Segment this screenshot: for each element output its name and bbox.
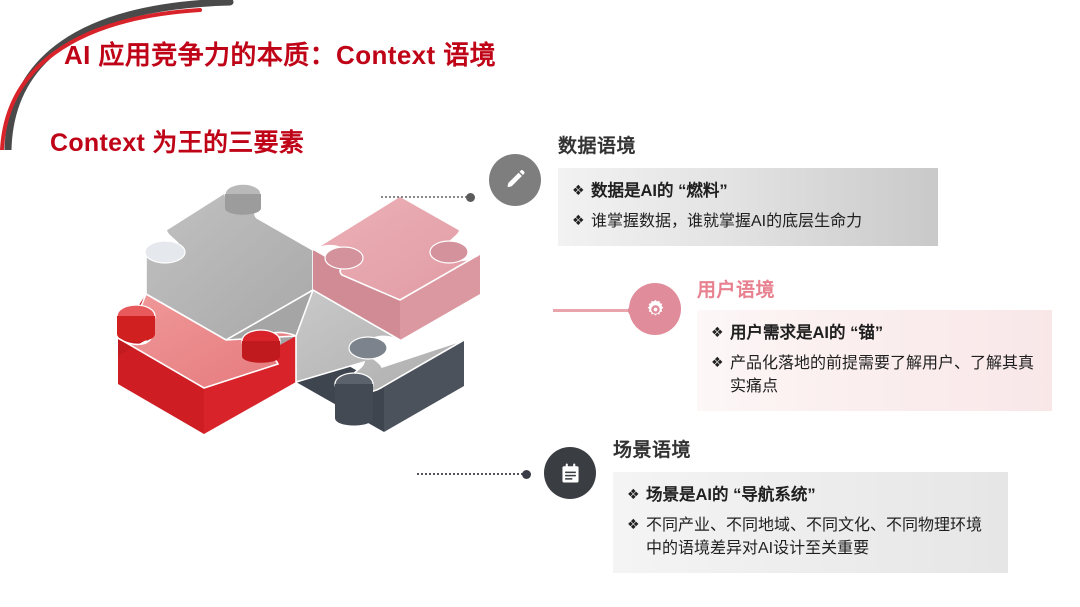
bullet-item: ❖ 数据是AI的 “燃料” — [572, 180, 922, 204]
context-block-scene: 场景语境 ❖ 场景是AI的 “导航系统” ❖ 不同产业、不同地域、不同文化、不同… — [613, 435, 1008, 573]
slide-canvas: AI 应用竞争力的本质：Context 语境 Context 为王的三要素 — [0, 0, 1080, 607]
block-body-data: ❖ 数据是AI的 “燃料” ❖ 谁掌握数据，谁就掌握AI的底层生命力 — [558, 168, 938, 246]
bullet-diamond-icon: ❖ — [627, 514, 646, 536]
block-heading-scene: 场景语境 — [613, 435, 1008, 462]
bullet-item: ❖ 用户需求是AI的 “锚” — [711, 322, 1036, 346]
bullet-diamond-icon: ❖ — [572, 180, 591, 202]
connector-line — [417, 473, 527, 475]
block-heading-data: 数据语境 — [558, 131, 938, 158]
bullet-diamond-icon: ❖ — [711, 352, 730, 374]
block-heading-user: 用户语境 — [697, 275, 1052, 302]
block-body-scene: ❖ 场景是AI的 “导航系统” ❖ 不同产业、不同地域、不同文化、不同物理环境中… — [613, 472, 1008, 573]
connector-line — [553, 309, 635, 312]
connector-data — [381, 196, 471, 198]
bullet-text: 用户需求是AI的 “锚” — [730, 322, 883, 346]
page-subtitle: Context 为王的三要素 — [50, 123, 304, 159]
bullet-diamond-icon: ❖ — [627, 484, 646, 506]
badge-user-context[interactable] — [629, 283, 681, 335]
jigsaw-puzzle-illustration — [108, 168, 508, 508]
bullet-item: ❖ 场景是AI的 “导航系统” — [627, 484, 992, 508]
connector-dot — [466, 193, 475, 202]
badge-scene-context[interactable] — [544, 447, 596, 499]
connector-dot — [522, 470, 531, 479]
context-block-user: 用户语境 ❖ 用户需求是AI的 “锚” ❖ 产品化落地的前提需要了解用户、了解其… — [697, 275, 1052, 411]
bullet-item: ❖ 谁掌握数据，谁就掌握AI的底层生命力 — [572, 210, 922, 233]
bullet-item: ❖ 不同产业、不同地域、不同文化、不同物理环境中的语境差异对AI设计至关重要 — [627, 514, 992, 560]
bullet-text: 场景是AI的 “导航系统” — [646, 484, 816, 508]
bullet-text: 数据是AI的 “燃料” — [591, 180, 728, 204]
connector-line — [381, 196, 471, 198]
bullet-diamond-icon: ❖ — [572, 210, 591, 232]
bullet-text: 产品化落地的前提需要了解用户、了解其真实痛点 — [730, 352, 1036, 398]
bullet-diamond-icon: ❖ — [711, 322, 730, 344]
gear-icon — [644, 298, 667, 321]
clipboard-icon — [559, 462, 582, 485]
bullet-item: ❖ 产品化落地的前提需要了解用户、了解其真实痛点 — [711, 352, 1036, 398]
page-title: AI 应用竞争力的本质：Context 语境 — [64, 35, 496, 72]
bullet-text: 不同产业、不同地域、不同文化、不同物理环境中的语境差异对AI设计至关重要 — [646, 514, 992, 560]
pencil-icon — [503, 168, 527, 192]
block-body-user: ❖ 用户需求是AI的 “锚” ❖ 产品化落地的前提需要了解用户、了解其真实痛点 — [697, 310, 1052, 411]
bullet-text: 谁掌握数据，谁就掌握AI的底层生命力 — [591, 210, 862, 233]
connector-user — [553, 309, 635, 311]
context-block-data: 数据语境 ❖ 数据是AI的 “燃料” ❖ 谁掌握数据，谁就掌握AI的底层生命力 — [558, 131, 938, 246]
badge-data-context[interactable] — [489, 154, 541, 206]
connector-scene — [417, 473, 527, 475]
